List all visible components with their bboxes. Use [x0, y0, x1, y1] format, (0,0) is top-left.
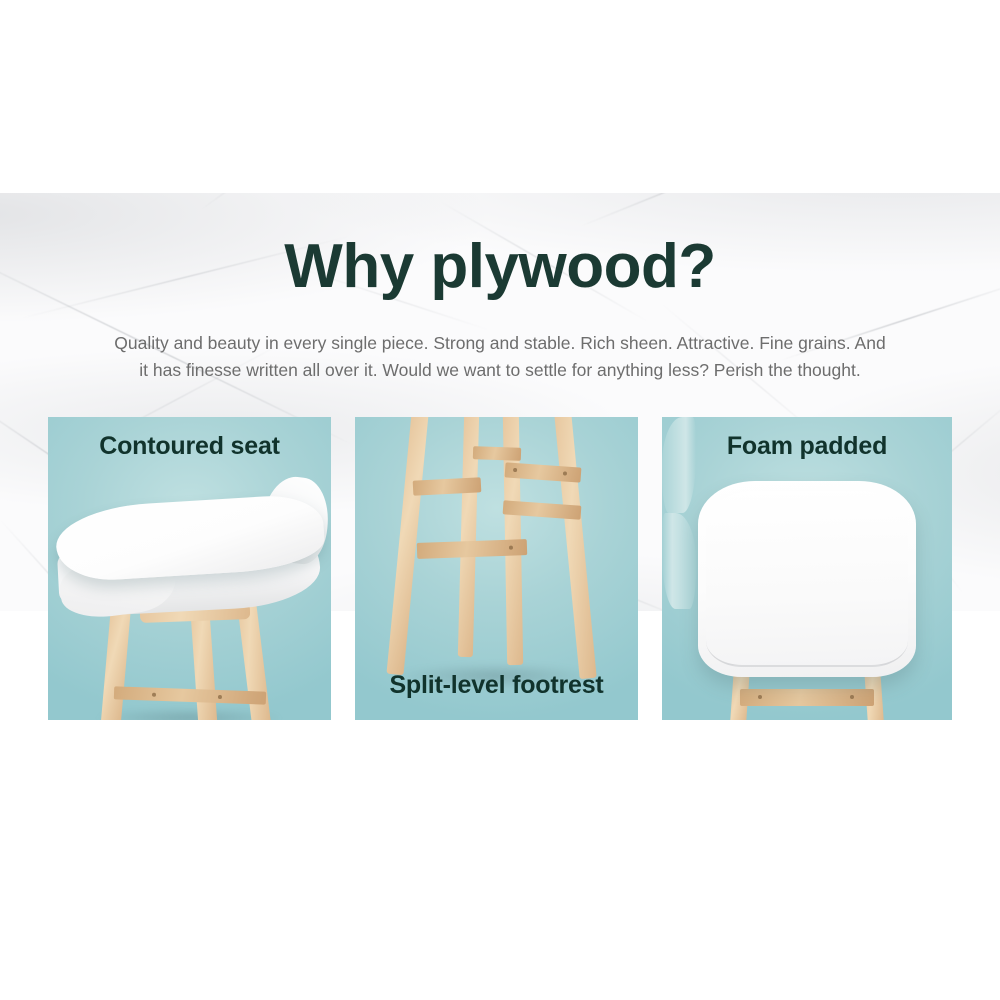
page-title: Why plywood?	[0, 234, 1000, 299]
feature-label-foam-padded: Foam padded	[662, 432, 952, 461]
stool-footrest-rail	[740, 689, 874, 706]
feature-panel-group: Contoured seat	[48, 417, 952, 720]
stool-leg-right	[554, 417, 596, 679]
footrest-top-rail	[473, 446, 521, 461]
feature-panel-contoured-seat: Contoured seat	[48, 417, 331, 720]
page-subtitle: Quality and beauty in every single piece…	[110, 330, 890, 383]
feature-label-split-level-footrest: Split-level footrest	[355, 671, 638, 700]
padded-seat-cushion	[706, 491, 908, 667]
product-feature-banner: Why plywood? Quality and beauty in every…	[0, 0, 1000, 1000]
feature-label-contoured-seat: Contoured seat	[48, 432, 331, 461]
stool-leg-front	[101, 602, 132, 720]
seat-waist-curve-right	[662, 513, 696, 609]
feature-panel-split-level-footrest: Split-level footrest	[355, 417, 638, 720]
stool-brace	[114, 686, 266, 704]
feature-panel-foam-padded: Foam padded	[662, 417, 952, 720]
